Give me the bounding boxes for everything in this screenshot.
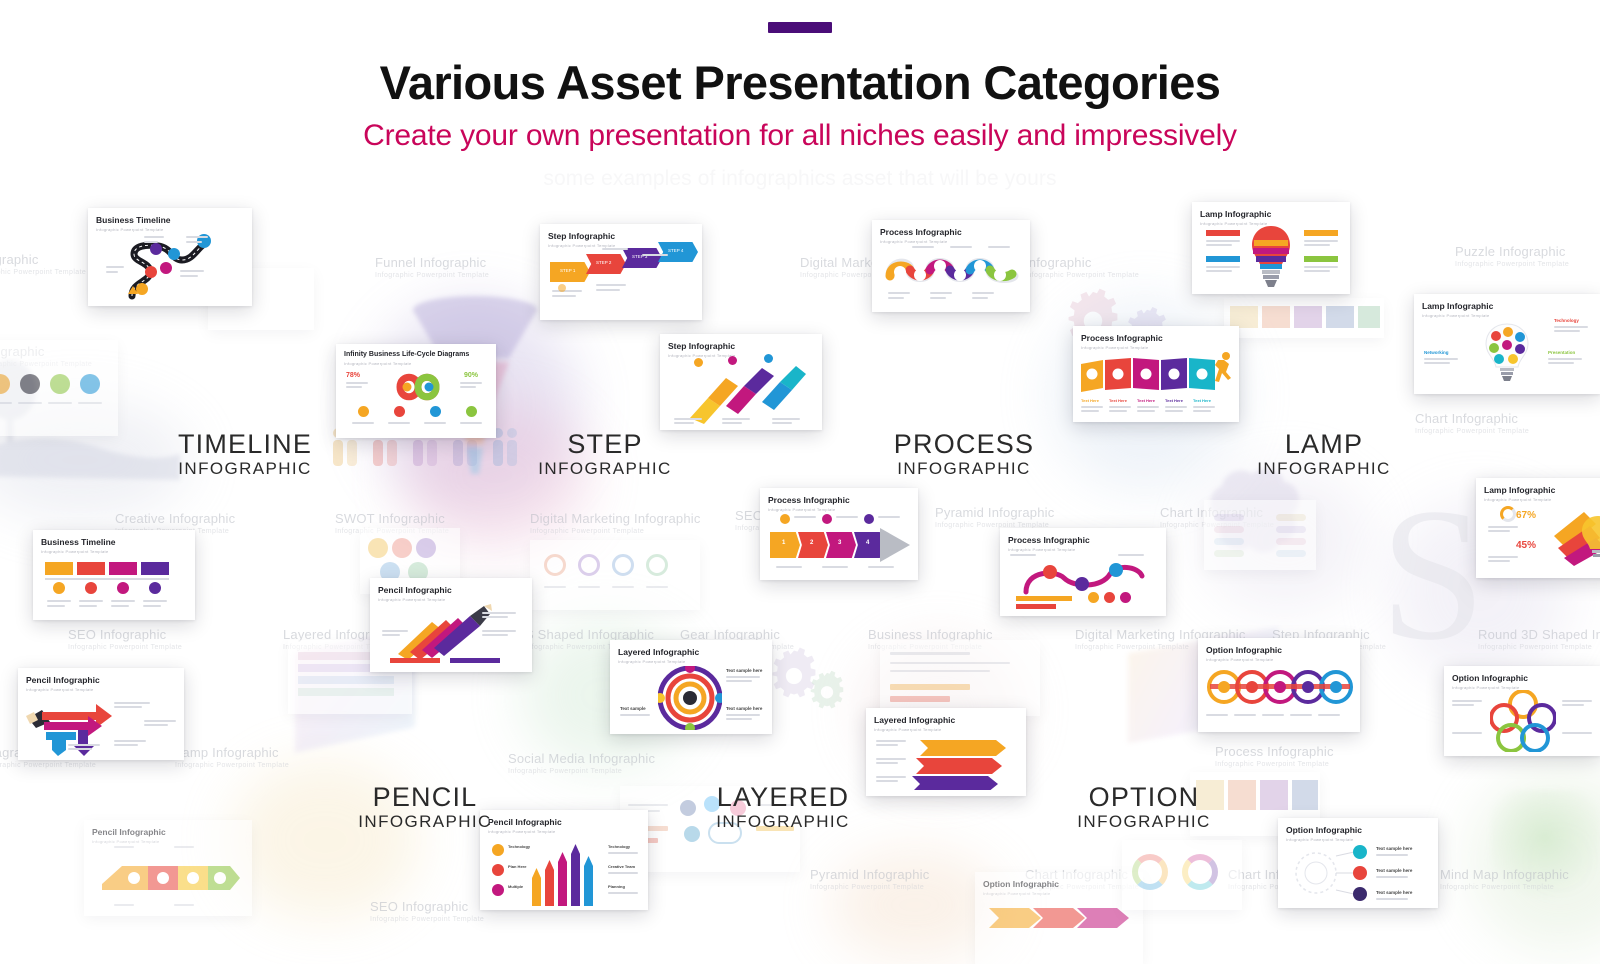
ghost-label: Pyramid InfographicInfographic Powerpoin… bbox=[810, 867, 929, 891]
ghost-label-text: Creative Infographic bbox=[115, 511, 235, 526]
card-title: Infinity Business Life-Cycle Diagrams bbox=[344, 351, 469, 358]
card-process-3[interactable]: Process Infographic Infographic Powerpoi… bbox=[760, 488, 918, 580]
card-subtitle: Infographic Powerpoint Template bbox=[378, 597, 445, 602]
card-lamp-2[interactable]: Lamp Infographic Infographic Powerpoint … bbox=[1414, 294, 1600, 394]
category-label-sub: INFOGRAPHIC bbox=[673, 812, 893, 832]
card-title: Pencil Infographic bbox=[26, 675, 100, 685]
category-label-lamp: LAMPINFOGRAPHIC bbox=[1214, 430, 1434, 479]
progress-ring bbox=[1500, 506, 1516, 522]
card-title: Process Infographic bbox=[1081, 333, 1163, 343]
category-label-main: OPTION bbox=[1034, 783, 1254, 811]
card-subtitle: Infographic Powerpoint Template bbox=[1008, 547, 1075, 552]
card-subtitle: Infographic Powerpoint Template bbox=[1081, 345, 1148, 350]
ghost-label-text: Puzzle Infographic bbox=[1455, 244, 1566, 259]
ghost-label-subtext: Infographic Powerpoint Template bbox=[1215, 761, 1334, 768]
runner-icon bbox=[1215, 350, 1235, 392]
ghost-label-subtext: Infographic Powerpoint Template bbox=[68, 644, 182, 651]
ghost-label-text: Pyramid Infographic bbox=[810, 867, 929, 882]
ghost-label: Social Media InfographicInfographic Powe… bbox=[508, 751, 655, 775]
ghost-label: Puzzle InfographicInfographic Powerpoint… bbox=[1455, 244, 1569, 268]
option-nodes-graphic bbox=[1292, 842, 1368, 904]
category-label-main: LAYERED bbox=[673, 783, 893, 811]
ghost-label-text: Mind Map Infographic bbox=[1440, 867, 1569, 882]
process-ribbon-graphic bbox=[1081, 354, 1231, 394]
ghost-label: Funnel InfographicInfographic Powerpoint… bbox=[375, 255, 489, 279]
card-chart-placeholder-right[interactable] bbox=[1204, 500, 1316, 570]
category-label-sub: INFOGRAPHIC bbox=[495, 459, 715, 479]
ghost-label-subtext: Infographic Powerpoint Template bbox=[0, 269, 86, 276]
card-subtitle: Infographic Powerpoint Template bbox=[92, 839, 159, 844]
card-business-timeline-1[interactable]: Business Timeline Infographic Powerpoint… bbox=[88, 208, 252, 306]
ghost-label-text: Infographic bbox=[1025, 255, 1092, 270]
category-label-process: PROCESSINFOGRAPHIC bbox=[854, 430, 1074, 479]
page-subtitle: Create your own presentation for all nic… bbox=[0, 121, 1600, 151]
card-title: Business Timeline bbox=[41, 537, 115, 547]
ghost-label-text: SEO Infographic bbox=[370, 899, 468, 914]
process-wave-graphic bbox=[882, 254, 1022, 286]
category-label-main: TIMELINE bbox=[135, 430, 355, 458]
ghost-label-subtext: Infographic Powerpoint Template bbox=[1025, 272, 1139, 279]
page-title: Various Asset Presentation Categories bbox=[0, 59, 1600, 106]
ghost-label-text: Pyramid Infographic bbox=[935, 505, 1054, 520]
pencil-set-graphic bbox=[528, 840, 602, 906]
card-option-2[interactable]: Option Infographic Infographic Powerpoin… bbox=[1444, 666, 1600, 756]
card-subtitle: Infographic Powerpoint Template bbox=[668, 353, 735, 358]
card-subtitle: Infographic Powerpoint Template bbox=[1206, 657, 1273, 662]
card-subtitle: Infographic Powerpoint Template bbox=[41, 549, 108, 554]
lamp-bulb-graphic bbox=[1250, 224, 1292, 290]
card-layered-1[interactable]: Layered Infographic Infographic Powerpoi… bbox=[610, 640, 772, 734]
card-title: Step Infographic bbox=[668, 341, 735, 351]
layered-circle-graphic bbox=[658, 666, 722, 730]
option-rings-graphic bbox=[1206, 666, 1354, 708]
process-curve-graphic bbox=[1016, 556, 1152, 600]
card-title: Pencil Infographic bbox=[378, 585, 452, 595]
ghost-label-text: Funnel Infographic bbox=[375, 255, 486, 270]
ghost-label: Pyramid InfographicInfographic Powerpoin… bbox=[935, 505, 1054, 529]
lamp-ribbons-graphic bbox=[1538, 500, 1600, 572]
ghost-label-text: Chart Infographic bbox=[1415, 411, 1518, 426]
infinity-graphic bbox=[380, 370, 456, 404]
ghost-label-subtext: Infographic Powerpoint Template bbox=[370, 916, 484, 923]
card-option-1[interactable]: Option Infographic Infographic Powerpoin… bbox=[1198, 638, 1360, 732]
card-title: Process Infographic bbox=[880, 227, 962, 237]
category-label-timeline: TIMELINEINFOGRAPHIC bbox=[135, 430, 355, 479]
ghost-label-subtext: Infographic Powerpoint Template bbox=[1455, 261, 1569, 268]
ghost-label-text: Round 3D Shaped Infographic bbox=[1478, 627, 1600, 642]
ghost-label: Mind Map InfographicInfographic Powerpoi… bbox=[1440, 867, 1569, 891]
card-subtitle: Infographic Powerpoint Template bbox=[344, 361, 411, 366]
pencil-path-graphic bbox=[98, 856, 242, 900]
card-pencil-1[interactable]: Pencil Infographic Infographic Powerpoin… bbox=[370, 578, 532, 672]
option-petals-graphic bbox=[1490, 690, 1556, 752]
card-subtitle: Infographic Powerpoint Template bbox=[618, 659, 685, 664]
step-3d-arrows-graphic bbox=[686, 362, 806, 424]
card-title: Step Infographic bbox=[548, 231, 615, 241]
card-chart-bottom-placeholder[interactable] bbox=[1122, 840, 1242, 910]
card-step-1[interactable]: Step Infographic Infographic Powerpoint … bbox=[540, 224, 702, 320]
card-title: Lamp Infographic bbox=[1422, 301, 1493, 311]
ghost-label-subtext: Infographic Powerpoint Template bbox=[1478, 644, 1600, 651]
category-label-main: PENCIL bbox=[315, 783, 535, 811]
process-arrow-end bbox=[880, 528, 910, 562]
category-label-step: STEPINFOGRAPHIC bbox=[495, 430, 715, 479]
timeline-road-graphic bbox=[114, 232, 226, 302]
card-step-2[interactable]: Step Infographic Infographic Powerpoint … bbox=[660, 334, 822, 430]
ghost-label: SEO InfographicInfographic Powerpoint Te… bbox=[370, 899, 484, 923]
card-lamp-1[interactable]: Lamp Infographic Infographic Powerpoint … bbox=[1192, 202, 1350, 294]
ghost-label-text: SEO Infographic bbox=[68, 627, 166, 642]
card-option-4[interactable]: Option Infographic Infographic Powerpoin… bbox=[975, 872, 1143, 964]
card-business-timeline-2[interactable]: Business Timeline Infographic Powerpoint… bbox=[33, 530, 195, 620]
card-business-placeholder[interactable] bbox=[880, 640, 1040, 716]
card-title: Option Infographic bbox=[983, 879, 1059, 889]
category-label-sub: INFOGRAPHIC bbox=[854, 459, 1074, 479]
card-puzzle-placeholder[interactable] bbox=[1224, 298, 1384, 338]
card-subtitle: Infographic Powerpoint Template bbox=[874, 727, 941, 732]
category-label-sub: INFOGRAPHIC bbox=[135, 459, 355, 479]
ghost-label-subtext: Infographic Powerpoint Template bbox=[0, 762, 96, 769]
ghost-label-subtext: Infographic Powerpoint Template bbox=[1440, 884, 1569, 891]
ghost-label-text: Infographic bbox=[0, 252, 39, 267]
card-process-4[interactable]: Process Infographic Infographic Powerpoi… bbox=[1000, 528, 1166, 616]
accent-bar bbox=[768, 22, 832, 33]
category-label-main: PROCESS bbox=[854, 430, 1074, 458]
card-title: Pencil Infographic bbox=[92, 827, 166, 837]
card-subtitle: Infographic Powerpoint Template bbox=[983, 891, 1050, 896]
card-subtitle: Infographic Powerpoint Template bbox=[880, 239, 947, 244]
ghost-label: Round 3D Shaped InfographicInfographic P… bbox=[1478, 627, 1600, 651]
ghost-label-subtext: Infographic Powerpoint Template bbox=[810, 884, 929, 891]
ghost-label-subtext: Infographic Powerpoint Template bbox=[508, 768, 655, 775]
card-subtitle: Infographic Powerpoint Template bbox=[768, 507, 835, 512]
card-circle-diagram-left[interactable] bbox=[0, 340, 118, 436]
card-title: Layered Infographic bbox=[618, 647, 699, 657]
category-label-pencil: PENCILINFOGRAPHIC bbox=[315, 783, 535, 832]
ghost-label: Digital Marketing InfographicInfographic… bbox=[530, 511, 701, 535]
card-title: Option Infographic bbox=[1206, 645, 1282, 655]
ghost-label-text: Lamp Infographic bbox=[175, 745, 279, 760]
ghost-label-subtext: Infographic Powerpoint Template bbox=[375, 272, 489, 279]
ghost-label-text: Process Infographic bbox=[1215, 744, 1334, 759]
ghost-label-subtext: Infographic Powerpoint Template bbox=[175, 762, 289, 769]
card-subtitle: Infographic Powerpoint Template bbox=[26, 687, 93, 692]
gear-icon-6 bbox=[805, 665, 849, 709]
card-infinity-lifecycle[interactable]: Infinity Business Life-Cycle Diagrams In… bbox=[336, 344, 496, 438]
ghost-label: Process InfographicInfographic Powerpoin… bbox=[1215, 744, 1334, 768]
card-option-3[interactable]: Option Infographic Infographic Powerpoin… bbox=[1278, 818, 1438, 908]
layered-ribbons-graphic bbox=[912, 734, 1016, 790]
card-pencil-circle[interactable]: Pencil Infographic Infographic Powerpoin… bbox=[84, 820, 252, 916]
card-title: Layered Infographic bbox=[874, 715, 955, 725]
card-title: Lamp Infographic bbox=[1484, 485, 1555, 495]
card-lamp-3[interactable]: Lamp Infographic Infographic Powerpoint … bbox=[1476, 478, 1600, 578]
page-caption: some examples of infographics asset that… bbox=[0, 167, 1600, 191]
category-label-sub: INFOGRAPHIC bbox=[1214, 459, 1434, 479]
category-label-layered: LAYEREDINFOGRAPHIC bbox=[673, 783, 893, 832]
card-process-1[interactable]: Process Infographic Infographic Powerpoi… bbox=[872, 220, 1030, 312]
card-title: Process Infographic bbox=[1008, 535, 1090, 545]
card-pencil-2[interactable]: Pencil Infographic Infographic Powerpoin… bbox=[18, 668, 184, 760]
ghost-label-text: Social Media Infographic bbox=[508, 751, 655, 766]
category-label-sub: INFOGRAPHIC bbox=[315, 812, 535, 832]
category-label-option: OPTIONINFOGRAPHIC bbox=[1034, 783, 1254, 832]
card-title: Option Infographic bbox=[1452, 673, 1528, 683]
category-label-main: STEP bbox=[495, 430, 715, 458]
card-title: Lamp Infographic bbox=[1200, 209, 1271, 219]
card-seo-placeholder[interactable] bbox=[530, 540, 700, 610]
card-title: Process Infographic bbox=[768, 495, 850, 505]
category-label-sub: INFOGRAPHIC bbox=[1034, 812, 1254, 832]
ghost-label: InfographicInfographic Powerpoint Templa… bbox=[1025, 255, 1139, 279]
ghost-label-text: SWOT Infographic bbox=[335, 511, 445, 526]
page-header: Various Asset Presentation Categories Cr… bbox=[0, 0, 1600, 200]
lamp-icons-graphic bbox=[1472, 320, 1542, 382]
card-subtitle: Infographic Powerpoint Template bbox=[1422, 313, 1489, 318]
category-label-main: LAMP bbox=[1214, 430, 1434, 458]
ghost-label: SEO InfographicInfographic Powerpoint Te… bbox=[68, 627, 182, 651]
ghost-label-text: Digital Marketing Infographic bbox=[530, 511, 701, 526]
card-title: Business Timeline bbox=[96, 215, 170, 225]
ghost-label-subtext: Infographic Powerpoint Template bbox=[530, 528, 701, 535]
tree-graphic bbox=[1490, 790, 1600, 910]
card-process-2[interactable]: Process Infographic Infographic Powerpoi… bbox=[1073, 326, 1239, 422]
ghost-label: Lamp InfographicInfographic Powerpoint T… bbox=[175, 745, 289, 769]
card-title: Option Infographic bbox=[1286, 825, 1362, 835]
ghost-label: InfographicInfographic Powerpoint Templa… bbox=[0, 252, 86, 276]
